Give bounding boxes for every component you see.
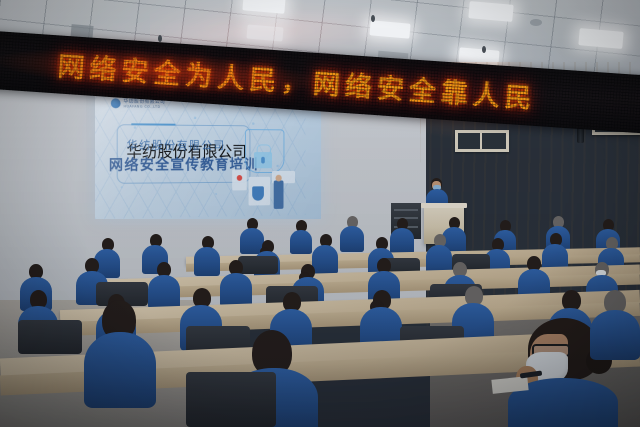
ceiling-speaker-icon bbox=[530, 19, 542, 26]
smoke-detector-icon-4 bbox=[482, 46, 486, 53]
audience-person bbox=[360, 290, 402, 348]
torso bbox=[590, 310, 640, 360]
smoke-detector-icon bbox=[158, 35, 162, 42]
ceiling-light-2 bbox=[246, 24, 283, 41]
chair-back-foreground bbox=[186, 372, 276, 427]
meeting-room-photo: 华纺股份有限公司 HUAFANG CO.,LTD 华纺股份有限公司 华纺股份有限… bbox=[0, 0, 640, 427]
wall-window-left bbox=[455, 130, 509, 152]
podium-top-surface bbox=[421, 203, 467, 208]
audience-person-right bbox=[590, 290, 640, 356]
audience-person-foreground-left bbox=[84, 300, 156, 400]
chair-back bbox=[18, 320, 82, 354]
smoke-detector-icon-3 bbox=[371, 15, 375, 22]
torso bbox=[84, 332, 156, 408]
